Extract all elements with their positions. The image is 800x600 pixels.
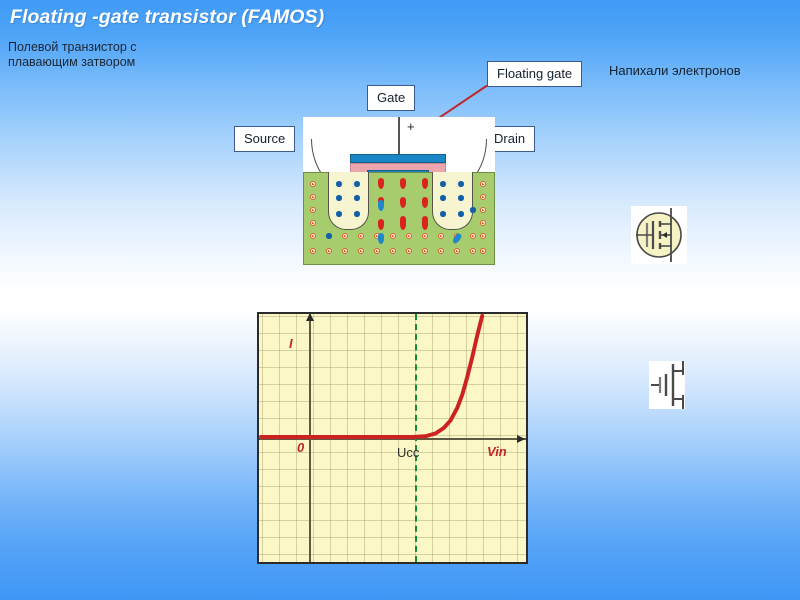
- gate-polarity-label: +: [407, 120, 415, 133]
- hole-icon: [342, 248, 348, 254]
- chart-x-axis-label: Vin: [487, 444, 507, 459]
- electron-icon: [354, 181, 360, 187]
- electron-icon: [458, 181, 464, 187]
- ionized-carrier-icon: [400, 219, 406, 230]
- annotation-electrons-injected: Напихали электронов: [609, 63, 741, 78]
- injected-electron-icon: [378, 200, 384, 211]
- hole-icon: [438, 248, 444, 254]
- hole-icon: [390, 233, 396, 239]
- electron-icon: [470, 207, 476, 213]
- electron-icon: [354, 211, 360, 217]
- hole-icon: [358, 233, 364, 239]
- hole-icon: [310, 220, 316, 226]
- hole-icon: [310, 233, 316, 239]
- electron-icon: [326, 233, 332, 239]
- iv-characteristic-chart: I 0 Ucc Vin: [257, 312, 528, 564]
- page-title: Floating -gate transistor (FAMOS): [10, 6, 324, 29]
- hole-icon: [480, 207, 486, 213]
- hole-icon: [470, 248, 476, 254]
- hole-icon: [422, 233, 428, 239]
- control-gate-bar: [350, 154, 446, 163]
- ionized-carrier-icon: [400, 178, 406, 189]
- hole-icon: [310, 194, 316, 200]
- electron-icon: [336, 195, 342, 201]
- hole-icon: [406, 248, 412, 254]
- n-drain-region: [432, 172, 473, 230]
- label-source: Source: [234, 126, 295, 152]
- page-subtitle: Полевой транзистор с плавающим затвором: [8, 40, 137, 70]
- iv-curve-path: [261, 316, 482, 437]
- hole-icon: [310, 207, 316, 213]
- hole-icon: [406, 233, 412, 239]
- electron-icon: [440, 181, 446, 187]
- capacitor-symbol-svg: [649, 361, 685, 409]
- chart-y-axis-label: I: [289, 336, 293, 351]
- hole-icon: [422, 248, 428, 254]
- n-source-region: [328, 172, 369, 230]
- injected-electron-icon: [451, 232, 462, 244]
- hole-icon: [390, 248, 396, 254]
- hole-icon: [310, 181, 316, 187]
- electron-icon: [440, 195, 446, 201]
- famos-symbol-svg: [631, 206, 687, 264]
- hole-icon: [310, 248, 316, 254]
- hole-icon: [358, 248, 364, 254]
- injected-electron-icon: [378, 233, 384, 244]
- hole-icon: [342, 233, 348, 239]
- electron-icon: [336, 211, 342, 217]
- iv-curve-svg: [259, 314, 526, 562]
- label-floating-gate: Floating gate: [487, 61, 582, 87]
- gate-terminal-lead: [398, 117, 400, 155]
- hole-icon: [480, 220, 486, 226]
- hole-icon: [438, 233, 444, 239]
- hole-icon: [470, 233, 476, 239]
- floating-gate-capacitor-symbol: [649, 361, 685, 409]
- p-substrate: [303, 172, 495, 265]
- ionized-carrier-icon: [378, 178, 384, 189]
- hole-icon: [326, 248, 332, 254]
- hole-icon: [480, 248, 486, 254]
- transistor-cross-section: +: [303, 117, 495, 265]
- ionized-carrier-icon: [422, 219, 428, 230]
- hole-icon: [480, 194, 486, 200]
- hole-icon: [454, 248, 460, 254]
- electron-icon: [354, 195, 360, 201]
- hole-icon: [480, 181, 486, 187]
- ionized-carrier-icon: [400, 197, 406, 208]
- ionized-carrier-icon: [422, 197, 428, 208]
- famos-transistor-symbol: [631, 206, 687, 264]
- label-gate: Gate: [367, 85, 415, 111]
- electron-icon: [458, 195, 464, 201]
- ionized-carrier-icon: [378, 219, 384, 230]
- hole-icon: [374, 248, 380, 254]
- chart-origin-label: 0: [297, 440, 304, 455]
- hole-icon: [480, 233, 486, 239]
- electron-icon: [440, 211, 446, 217]
- ionized-carrier-icon: [422, 178, 428, 189]
- chart-threshold-label: Ucc: [397, 445, 419, 460]
- electron-icon: [336, 181, 342, 187]
- electron-icon: [458, 211, 464, 217]
